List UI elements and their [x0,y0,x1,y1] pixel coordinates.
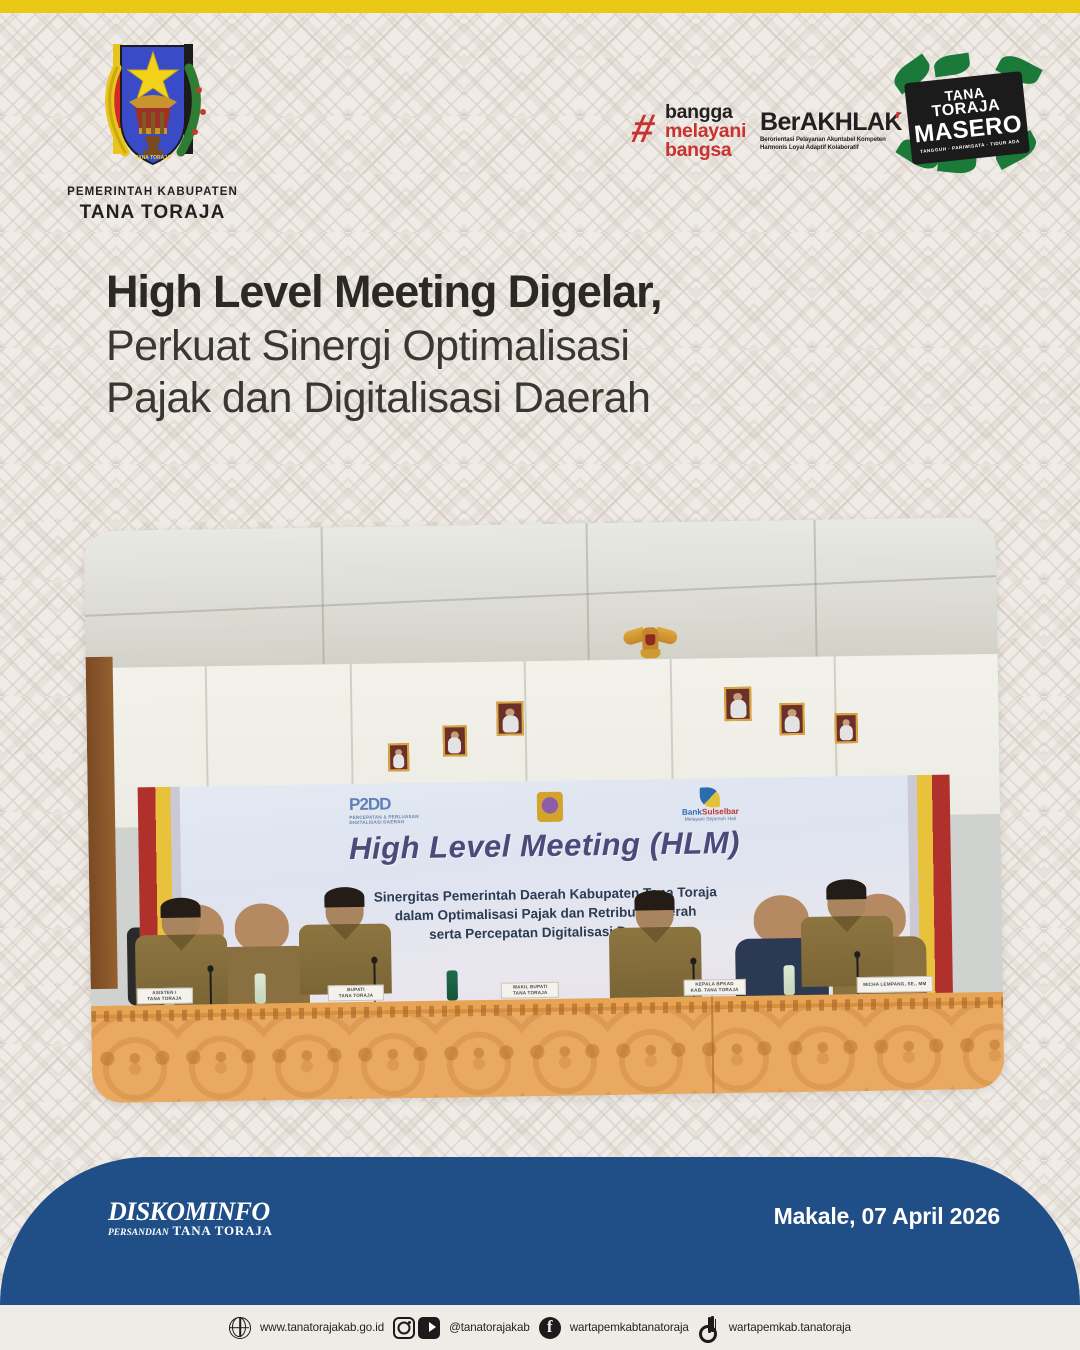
nameplate: WAKIL BUPATI TANA TORAJA [501,981,559,998]
water-bottle [255,973,266,1003]
banner-title: High Level Meeting (HLM) [138,822,950,871]
youtube-icon[interactable] [418,1317,440,1339]
social-handle-ig-yt[interactable]: @tanatorajakab [449,1321,530,1334]
news-photo: P2DD PERCEPATAN & PERLUASAN DIGITALISASI… [84,517,1005,1103]
wall-portrait [497,702,525,736]
p2dd-sub2: DIGITALISASI DAERAH [349,819,419,825]
gov-label-line1: PEMERINTAH KABUPATEN [40,186,265,198]
berakhlak-sub-line1: Berorientasi Pelayanan Akuntabel Kompete… [760,136,895,144]
gov-label-line2: TANA TORAJA [40,202,265,224]
photo-side-wall [86,657,119,989]
diskominfo-region: TANA TORAJA [173,1223,273,1238]
tana-toraja-seal-icon [537,792,563,822]
water-bottle [446,970,457,1000]
photo-ceiling [84,517,998,669]
wall-portrait [388,743,409,771]
nameplate: MICHA LEMPANG, SE., MM [857,976,933,993]
berakhlak-sub-line2: Harmonis Loyal Adaptif Kolaboratif [760,144,895,152]
diskominfo-logo: DISKOMINFO PERSANDIAN TANA TORAJA [108,1199,308,1239]
nameplate: ASISTEN I TANA TORAJA [136,987,192,1004]
headline-line3: Pajak dan Digitalisasi Daerah [106,372,966,424]
bank-sulselbar-logo: BankSulselbar Melayani Sepenuh Hati [682,787,739,823]
footer-band: DISKOMINFO PERSANDIAN TANA TORAJA Makale… [0,1157,1080,1305]
berakhlak-logo: BerAKHLAK ' Berorientasi Pelayanan Akunt… [760,109,895,165]
svg-text:TANA TORAJA: TANA TORAJA [135,155,171,161]
seated-official [846,882,848,994]
wall-portrait [779,703,804,735]
carved-wooden-table [91,992,1004,1104]
instagram-icon[interactable] [393,1317,415,1339]
water-bottle [784,965,795,995]
tiktok-handle[interactable]: wartapemkab.tanatoraja [729,1321,851,1334]
bangga-melayani-bangsa-logo: # bangga melayani bangsa [632,101,760,163]
bank-swoosh-icon [700,787,720,807]
tana-toraja-coat-of-arms-icon: TANA TORAJA [83,28,223,178]
berakhlak-wordmark: BerAKHLAK [760,109,895,135]
masero-badge: TANA TORAJA MASERO TANGGUH · PARIWISATA … [904,71,1030,165]
social-links-bar: www.tanatorajakab.go.id @tanatorajakab w… [0,1305,1080,1350]
publication-date: Makale, 07 April 2026 [774,1203,1000,1230]
headline-line1: High Level Meeting Digelar, [106,264,966,320]
top-accent-bar [0,0,1080,13]
government-identity-block: TANA TORAJA PEMERINTAH KABUPATEN TANA TO… [40,28,265,224]
page-title: High Level Meeting Digelar, Perkuat Sine… [106,264,966,424]
bank-name2: Sulselbar [702,807,739,817]
facebook-handle[interactable]: wartapemkabtanatoraja [570,1321,689,1334]
wall-portrait [724,687,752,721]
garuda-emblem-icon [623,625,678,666]
headline-line2: Perkuat Sinergi Optimalisasi [106,320,966,372]
nameplate: BUPATI TANA TORAJA [328,984,384,1001]
bank-tagline: Melayani Sepenuh Hati [682,816,739,823]
website-url[interactable]: www.tanatorajakab.go.id [260,1321,384,1334]
bank-name: Bank [682,807,702,816]
tiktok-icon[interactable] [698,1317,720,1339]
facebook-icon[interactable] [539,1317,561,1339]
p2dd-logo: P2DD PERCEPATAN & PERLUASAN DIGITALISASI… [349,794,419,825]
wall-portrait [834,714,857,744]
hash-icon: # [627,107,659,152]
wall-portrait [442,725,466,756]
diskominfo-wordmark: DISKOMINFO [108,1199,308,1225]
p2dd-wordmark: P2DD [349,795,391,815]
bangga-line3: bangsa [665,141,731,160]
banner-logo-row: P2DD PERCEPATAN & PERLUASAN DIGITALISASI… [349,786,739,829]
diskominfo-persandian: PERSANDIAN [108,1228,169,1238]
tana-toraja-masero-logo: TANA TORAJA MASERO TANGGUH · PARIWISATA … [890,55,1040,185]
header: TANA TORAJA PEMERINTAH KABUPATEN TANA TO… [0,13,1080,228]
nameplate: KEPALA BPKAD KAB. TANA TORAJA [683,978,745,995]
leaf-icon [933,53,971,78]
seated-official [655,893,657,997]
globe-icon[interactable] [229,1317,251,1339]
